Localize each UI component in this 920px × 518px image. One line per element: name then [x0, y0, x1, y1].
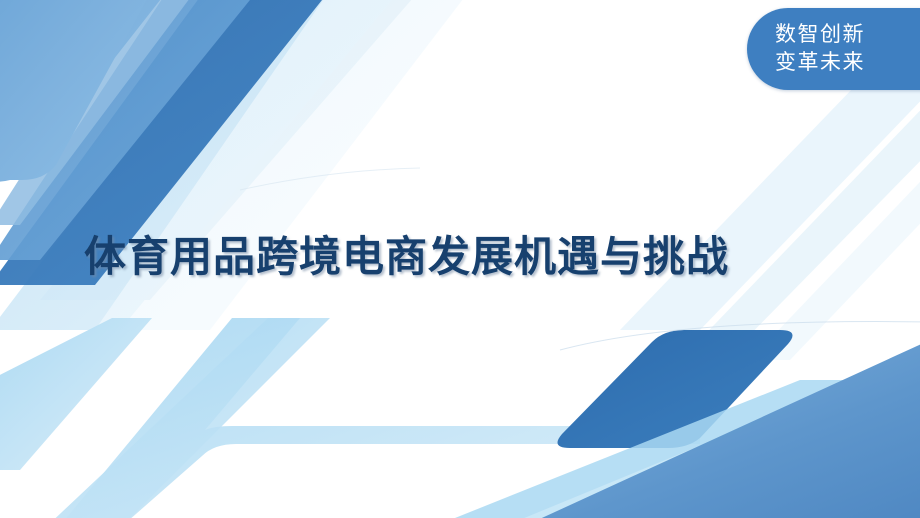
top-left-primary-panel-body	[0, 0, 152, 180]
badge-line-2: 变革未来	[775, 49, 865, 77]
title-block: 体育用品跨境电商发展机遇与挑战	[84, 232, 729, 282]
bottom-right-pale-wedge	[430, 380, 860, 518]
bottom-right-dark-parallelogram	[558, 330, 793, 448]
slide-canvas: 数智创新 变革未来 体育用品跨境电商发展机遇与挑战	[0, 0, 920, 518]
corner-badge: 数智创新 变革未来	[747, 8, 920, 90]
bottom-left-light-strip	[45, 318, 330, 518]
badge-line-1: 数智创新	[775, 21, 865, 49]
top-left-band-1	[0, 0, 196, 225]
hairline-arc-2	[240, 168, 420, 190]
bottom-left-light-wedge	[0, 318, 152, 470]
right-faint-band-3	[750, 140, 920, 360]
top-left-band-2	[0, 0, 258, 260]
page-title: 体育用品跨境电商发展机遇与挑战	[84, 232, 729, 282]
top-left-primary-panel	[0, 0, 168, 182]
right-faint-band-1	[620, 60, 920, 330]
hairline-arc-1	[560, 322, 920, 350]
bottom-right-pale-wedge-2	[500, 392, 880, 518]
bottom-right-blue-triangle	[520, 340, 920, 518]
right-faint-band-2	[690, 95, 920, 350]
bottom-thin-pale-strip	[58, 318, 700, 518]
